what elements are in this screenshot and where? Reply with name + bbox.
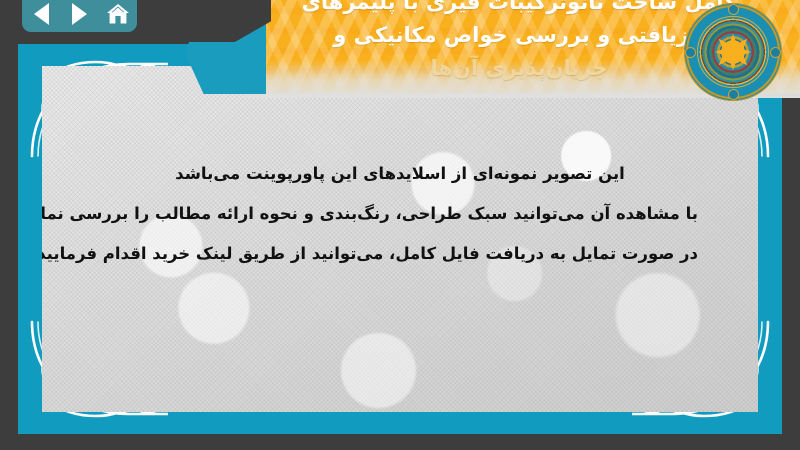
slide-content-area: این تصویر نمونه‌ای از اسلایدهای این پاور… [42, 66, 758, 412]
body-line-2: با مشاهده آن می‌توانید سبک طراحی، رنگ‌بن… [102, 194, 698, 234]
forward-button[interactable] [66, 1, 92, 27]
navigation-bar[interactable] [22, 0, 137, 32]
medallion-boss-bottom [728, 89, 739, 100]
slide-viewer-screen: این تصویر نمونه‌ای از اسلایدهای این پاور… [0, 0, 800, 450]
home-icon [106, 3, 130, 25]
medallion-star-center [715, 34, 751, 70]
body-line-1: این تصویر نمونه‌ای از اسلایدهای این پاور… [102, 154, 698, 194]
medallion-boss-right [770, 47, 781, 58]
slide-body-text: این تصویر نمونه‌ای از اسلایدهای این پاور… [102, 154, 698, 274]
bottom-bar [0, 434, 800, 450]
slide-frame: این تصویر نمونه‌ای از اسلایدهای این پاور… [18, 44, 782, 434]
triangle-left-icon [34, 3, 49, 25]
triangle-right-icon [72, 3, 87, 25]
medallion-boss-left [685, 47, 696, 58]
body-line-3: در صورت تمایل به دریافت فایل کامل، می‌تو… [102, 234, 698, 274]
medallion-boss-top [728, 4, 739, 15]
home-button[interactable] [105, 1, 131, 27]
ornament-medallion [684, 3, 782, 101]
back-button[interactable] [28, 1, 54, 27]
